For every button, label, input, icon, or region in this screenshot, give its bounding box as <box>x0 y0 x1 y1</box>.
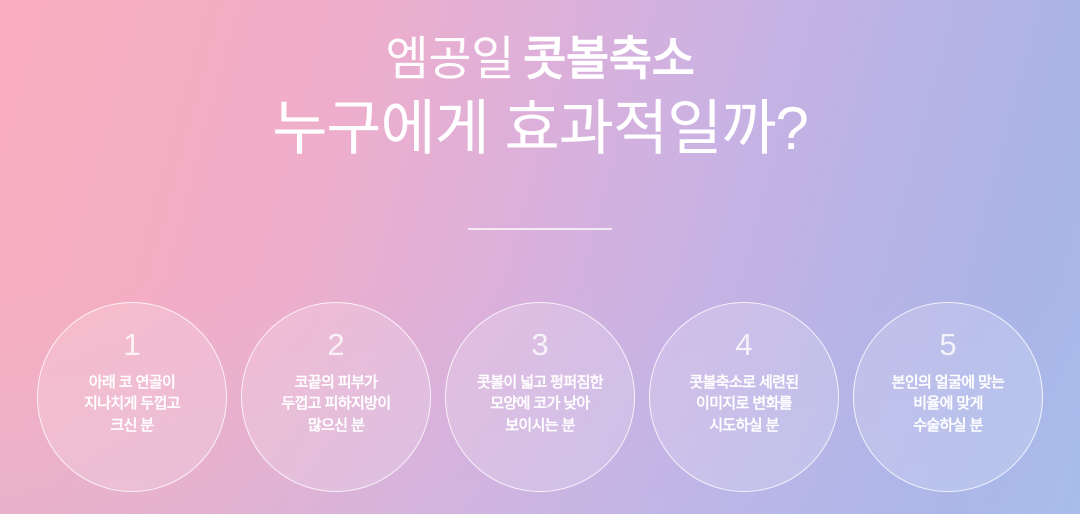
criteria-text-5: 본인의 얼굴에 맞는 비율에 맞게 수술하실 분 <box>854 372 1042 436</box>
headline-brand: 엠공일 <box>386 32 515 85</box>
criteria-number-1: 1 <box>123 329 140 360</box>
criteria-circle-2: 2 코끝의 피부가 두껍고 피하지방이 많으신 분 <box>241 302 431 492</box>
criteria-text-3: 콧볼이 넓고 펑퍼짐한 모양에 코가 낮아 보이시는 분 <box>446 372 634 436</box>
criteria-text-2: 코끝의 피부가 두껍고 피하지방이 많으신 분 <box>242 372 430 436</box>
criteria-circle-3: 3 콧볼이 넓고 펑퍼짐한 모양에 코가 낮아 보이시는 분 <box>445 302 635 492</box>
criteria-text-1: 아래 코 연골이 지나치게 두껍고 크신 분 <box>38 372 226 436</box>
headline-block: 엠공일콧볼축소 누구에게 효과적일까? <box>0 0 1080 165</box>
promo-banner: 엠공일콧볼축소 누구에게 효과적일까? 1 아래 코 연골이 지나치게 두껍고 … <box>0 0 1080 514</box>
headline-procedure: 콧볼축소 <box>523 32 694 85</box>
criteria-number-5: 5 <box>939 329 956 360</box>
criteria-circle-row: 1 아래 코 연골이 지나치게 두껍고 크신 분 2 코끝의 피부가 두껍고 피… <box>0 302 1080 498</box>
criteria-circle-4: 4 콧볼축소로 세련된 이미지로 변화를 시도하실 분 <box>649 302 839 492</box>
headline-divider <box>468 228 612 230</box>
criteria-number-2: 2 <box>327 329 344 360</box>
headline-line-1: 엠공일콧볼축소 <box>0 30 1080 87</box>
criteria-text-4: 콧볼축소로 세련된 이미지로 변화를 시도하실 분 <box>650 372 838 436</box>
criteria-circle-1: 1 아래 코 연골이 지나치게 두껍고 크신 분 <box>37 302 227 492</box>
criteria-number-3: 3 <box>531 329 548 360</box>
criteria-circle-5: 5 본인의 얼굴에 맞는 비율에 맞게 수술하실 분 <box>853 302 1043 492</box>
headline-line-2: 누구에게 효과적일까? <box>0 94 1080 165</box>
criteria-number-4: 4 <box>735 329 752 360</box>
